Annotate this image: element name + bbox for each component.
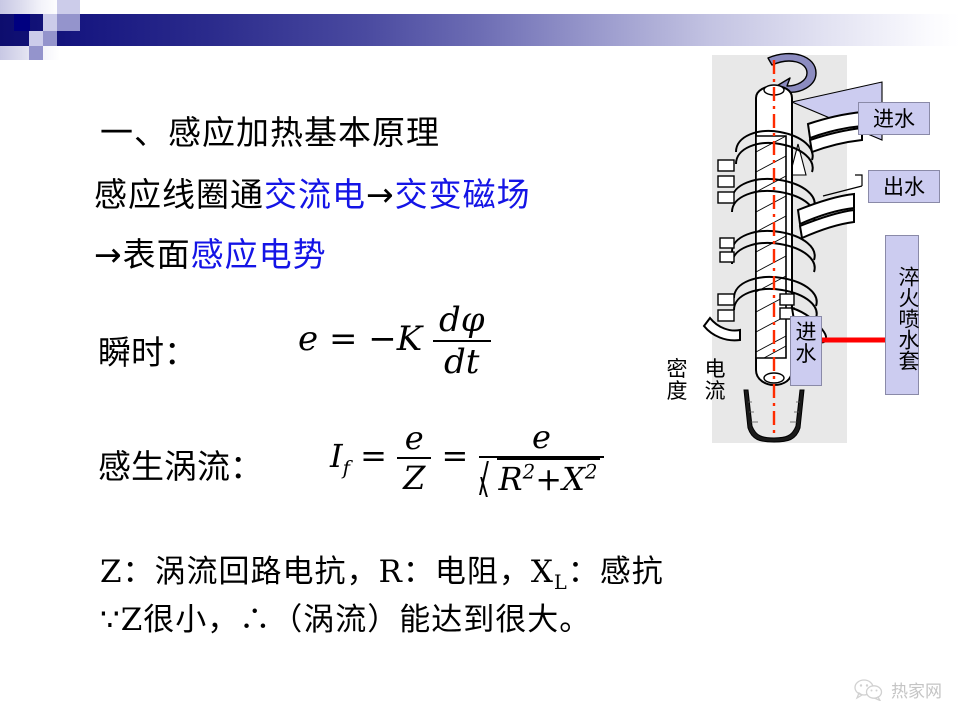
legend-XL-subscript: L [554,571,568,594]
label-density: 密度 [664,358,690,402]
label-eddy-current: 感生涡流： [98,440,263,488]
label-current: 电流 [702,358,728,402]
formula-equals: = [329,319,358,359]
formula-equals-1: = [360,437,387,475]
watermark: 热家网 [854,677,942,702]
slide-line-3: →表面感应电势 [94,228,327,276]
formula-eddy-current: If = e Z = e R2+X2 [330,418,604,498]
formula-e-num-2: e [479,418,605,456]
radicand: R2+X2 [497,458,601,498]
legend-tail: ：感抗 [568,554,664,590]
formula-dt: dt [433,340,491,382]
formula-If: If [330,437,350,475]
formula-e-over-sqrt: e R2+X2 [479,418,605,498]
line3-blue-emf: 感应电势 [191,235,327,274]
formula-sqrt-den: R2+X2 [479,456,605,498]
line2-prefix: 感应线圈通 [94,175,264,214]
formula-R-exponent: 2 [523,460,536,483]
outlet-leader-elbow [855,175,862,186]
slide-text-body: 一、感应加热基本原理 感应线圈通交流电→交变磁场 →表面感应电势 瞬时： e =… [0,0,700,720]
watermark-text: 热家网 [891,677,942,702]
formula-e: e [298,319,318,359]
label-water-outlet: 出水 [868,170,940,203]
line3-prefix: 表面 [123,235,191,274]
line2-blue-ac: 交流电 [264,175,366,214]
formula-If-subscript: f [343,456,350,479]
label-water-inlet-top: 进水 [858,102,930,135]
line2-blue-field: 交变磁场 [395,175,531,214]
outlet-leader-line [823,186,862,196]
formula-X: X [562,460,585,498]
conclusion-text: ∵Z很小，∴（涡流）能达到很大。 [100,594,591,639]
label-instant: 瞬时： [98,326,197,374]
label-water-inlet-bottom: 进水 [790,316,822,386]
legend-main: Z：涡流回路电抗，R：电阻，X [100,554,554,590]
radical-sign-icon: R2+X2 [483,458,601,498]
induction-coil-diagram: 进水 出水 淬火喷水套 进水 密度 电流 [640,40,960,460]
wechat-icon [854,679,884,701]
formula-dphi-dt-fraction: dφ dt [433,300,491,382]
formula-e-num: e [397,419,431,457]
formula-minus: − [368,319,397,359]
water-outlet-tube [798,194,854,238]
formula-R: R [499,460,523,498]
formula-plus: + [535,460,562,498]
slide-line-2: 感应线圈通交流电→交变磁场 [94,168,531,216]
label-quench-spray-jacket: 淬火喷水套 [885,235,919,395]
line3-arrow-icon: → [94,235,123,274]
formula-X-exponent: 2 [585,460,598,483]
water-inlet-tube [808,112,862,152]
slide-heading: 一、感应加热基本原理 [100,106,440,154]
formula-K: K [397,319,422,359]
formula-dphi: dφ [433,300,491,340]
legend-symbols: Z：涡流回路电抗，R：电阻，XL：感抗 [100,546,664,594]
line2-arrow-icon: → [366,175,395,214]
formula-Z-den: Z [397,457,431,497]
formula-e-over-Z: e Z [397,419,431,497]
formula-instantaneous-emf: e = −K dφ dt [298,300,491,382]
formula-equals-2: = [442,437,469,475]
